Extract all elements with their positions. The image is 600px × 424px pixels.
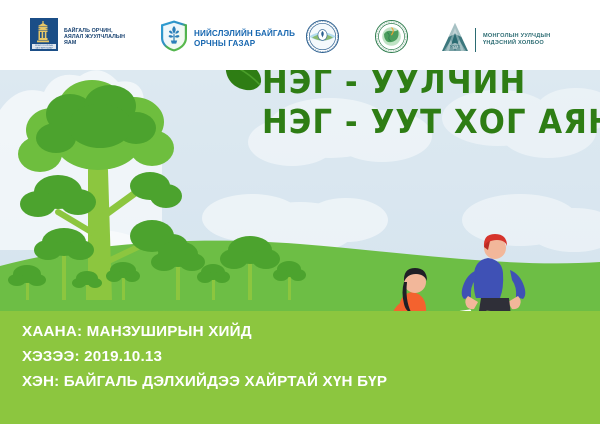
poster-root: МОНГОЛ УЛСЫН ЗАСГИЙН ГАЗАР БАЙГАЛЬ ОРЧИН… bbox=[0, 0, 600, 424]
poster-title: НЭГ - УУЛЧИН НЭГ - УУТ ХОГ АЯН bbox=[262, 62, 600, 142]
header-logo-bar: МОНГОЛ УЛСЫН ЗАСГИЙН ГАЗАР БАЙГАЛЬ ОРЧИН… bbox=[0, 0, 600, 70]
mongolian-national-climbing-federation-logo: МУҮХ МОНГОЛЫН УУЛЧДЫН ҮНДЭСНИЙ ХОЛБОО bbox=[440, 22, 550, 57]
svg-text:МУҮХ: МУҮХ bbox=[450, 44, 461, 48]
ministry-logo-label: БАЙГАЛЬ ОРЧИН, АЯЛАЛ ЖУУЛЧЛАЛЫН ЯАМ bbox=[64, 28, 125, 47]
shield-soyombo-emblem-icon bbox=[160, 20, 188, 57]
climbing-federation-logo-label: МОНГОЛЫН УУЛЧДЫН ҮНДЭСНИЙ ХОЛБОО bbox=[483, 33, 550, 46]
event-details-banner: ХААНА: МАНЗУШИРЫН ХИЙД ХЭЗЭЭ: 2019.10.13… bbox=[0, 311, 600, 424]
event-details-text: ХААНА: МАНЗУШИРЫН ХИЙД ХЭЗЭЭ: 2019.10.13… bbox=[22, 319, 387, 394]
circular-agency-emblem-2 bbox=[375, 20, 408, 58]
circular-agency-emblem-1 bbox=[306, 20, 339, 58]
event-audience-line: ХЭН: БАЙГАЛЬ ДЭЛХИЙДЭЭ ХАЙРТАЙ ХҮН БҮР bbox=[22, 369, 387, 394]
event-location-line: ХААНА: МАНЗУШИРЫН ХИЙД bbox=[22, 319, 387, 344]
logo-divider bbox=[475, 28, 476, 52]
title-line-2: НЭГ - УУТ ХОГ АЯН bbox=[262, 102, 600, 142]
city-logo-label: НИЙСЛЭЛИЙН БАЙГАЛЬ ОРЧНЫ ГАЗАР bbox=[194, 29, 295, 48]
mongolian-government-building-emblem-icon: МОНГОЛ УЛСЫН ЗАСГИЙН ГАЗАР bbox=[30, 18, 58, 56]
circular-blue-seal-icon bbox=[306, 20, 339, 58]
capital-city-environment-department-logo: НИЙСЛЭЛИЙН БАЙГАЛЬ ОРЧНЫ ГАЗАР bbox=[160, 20, 295, 57]
ministry-of-environment-and-tourism-logo: МОНГОЛ УЛСЫН ЗАСГИЙН ГАЗАР БАЙГАЛЬ ОРЧИН… bbox=[30, 18, 125, 56]
svg-text:ЗАСГИЙН ГАЗАР: ЗАСГИЙН ГАЗАР bbox=[35, 47, 53, 50]
mountain-peak-emblem-icon: МУҮХ bbox=[440, 22, 470, 57]
event-date-line: ХЭЗЭЭ: 2019.10.13 bbox=[22, 344, 387, 369]
circular-green-globe-seal-icon bbox=[375, 20, 408, 58]
